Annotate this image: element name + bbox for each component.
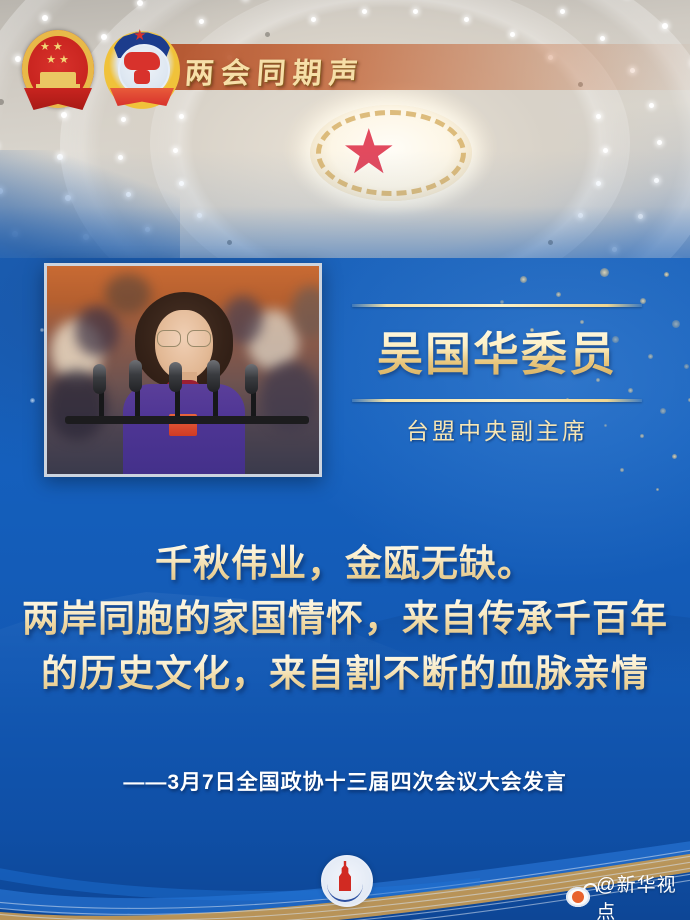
cppcc-emblem-red-shape-2 [134,70,150,84]
national-emblem-stars: ★ ★ ★ ★ [40,40,80,66]
quote-line: 千秋伟业，金瓯无缺。 [0,536,690,591]
name-divider-bottom [352,399,642,402]
speaker-glasses-icon [157,330,211,345]
speaker-photo [44,263,322,477]
speaker-role: 台盟中央副主席 [352,412,642,446]
speaker-name: 吴国华委员 [352,318,642,390]
quote-attribution: ——3月7日全国政协十三届四次会议大会发言 [0,766,690,796]
glasses-lens-right [187,330,211,347]
microphone-icon [169,362,182,392]
cppcc-emblem-red-shape [124,52,160,70]
weibo-icon [566,887,590,907]
microphone-icon [93,364,106,394]
microphone-icon [129,360,142,392]
microphone-icon [245,364,258,394]
weibo-handle: @新华视点 [596,870,690,920]
speaker-figure [125,292,243,474]
cppcc-star-icon: ★ [133,28,146,43]
quote-line: 的历史文化，来自割不断的血脉亲情 [0,646,690,701]
weibo-credit: @新华视点 [566,884,690,910]
banner-title: 两会同期声 [184,50,367,92]
photo-crowd-blob [75,306,119,356]
glasses-lens-left [157,330,181,347]
name-divider-top [352,304,642,307]
poster-root: ★ ★ ★ ★ ★ ★ 两会同期声 [0,0,690,920]
microphone-icon [207,360,220,392]
quote-line: 两岸同胞的家国情怀，来自传承千百年 [0,591,690,646]
microphone-rail [65,416,309,424]
quote-block: 千秋伟业，金瓯无缺。 两岸同胞的家国情怀，来自传承千百年 的历史文化，来自割不断… [0,536,690,701]
